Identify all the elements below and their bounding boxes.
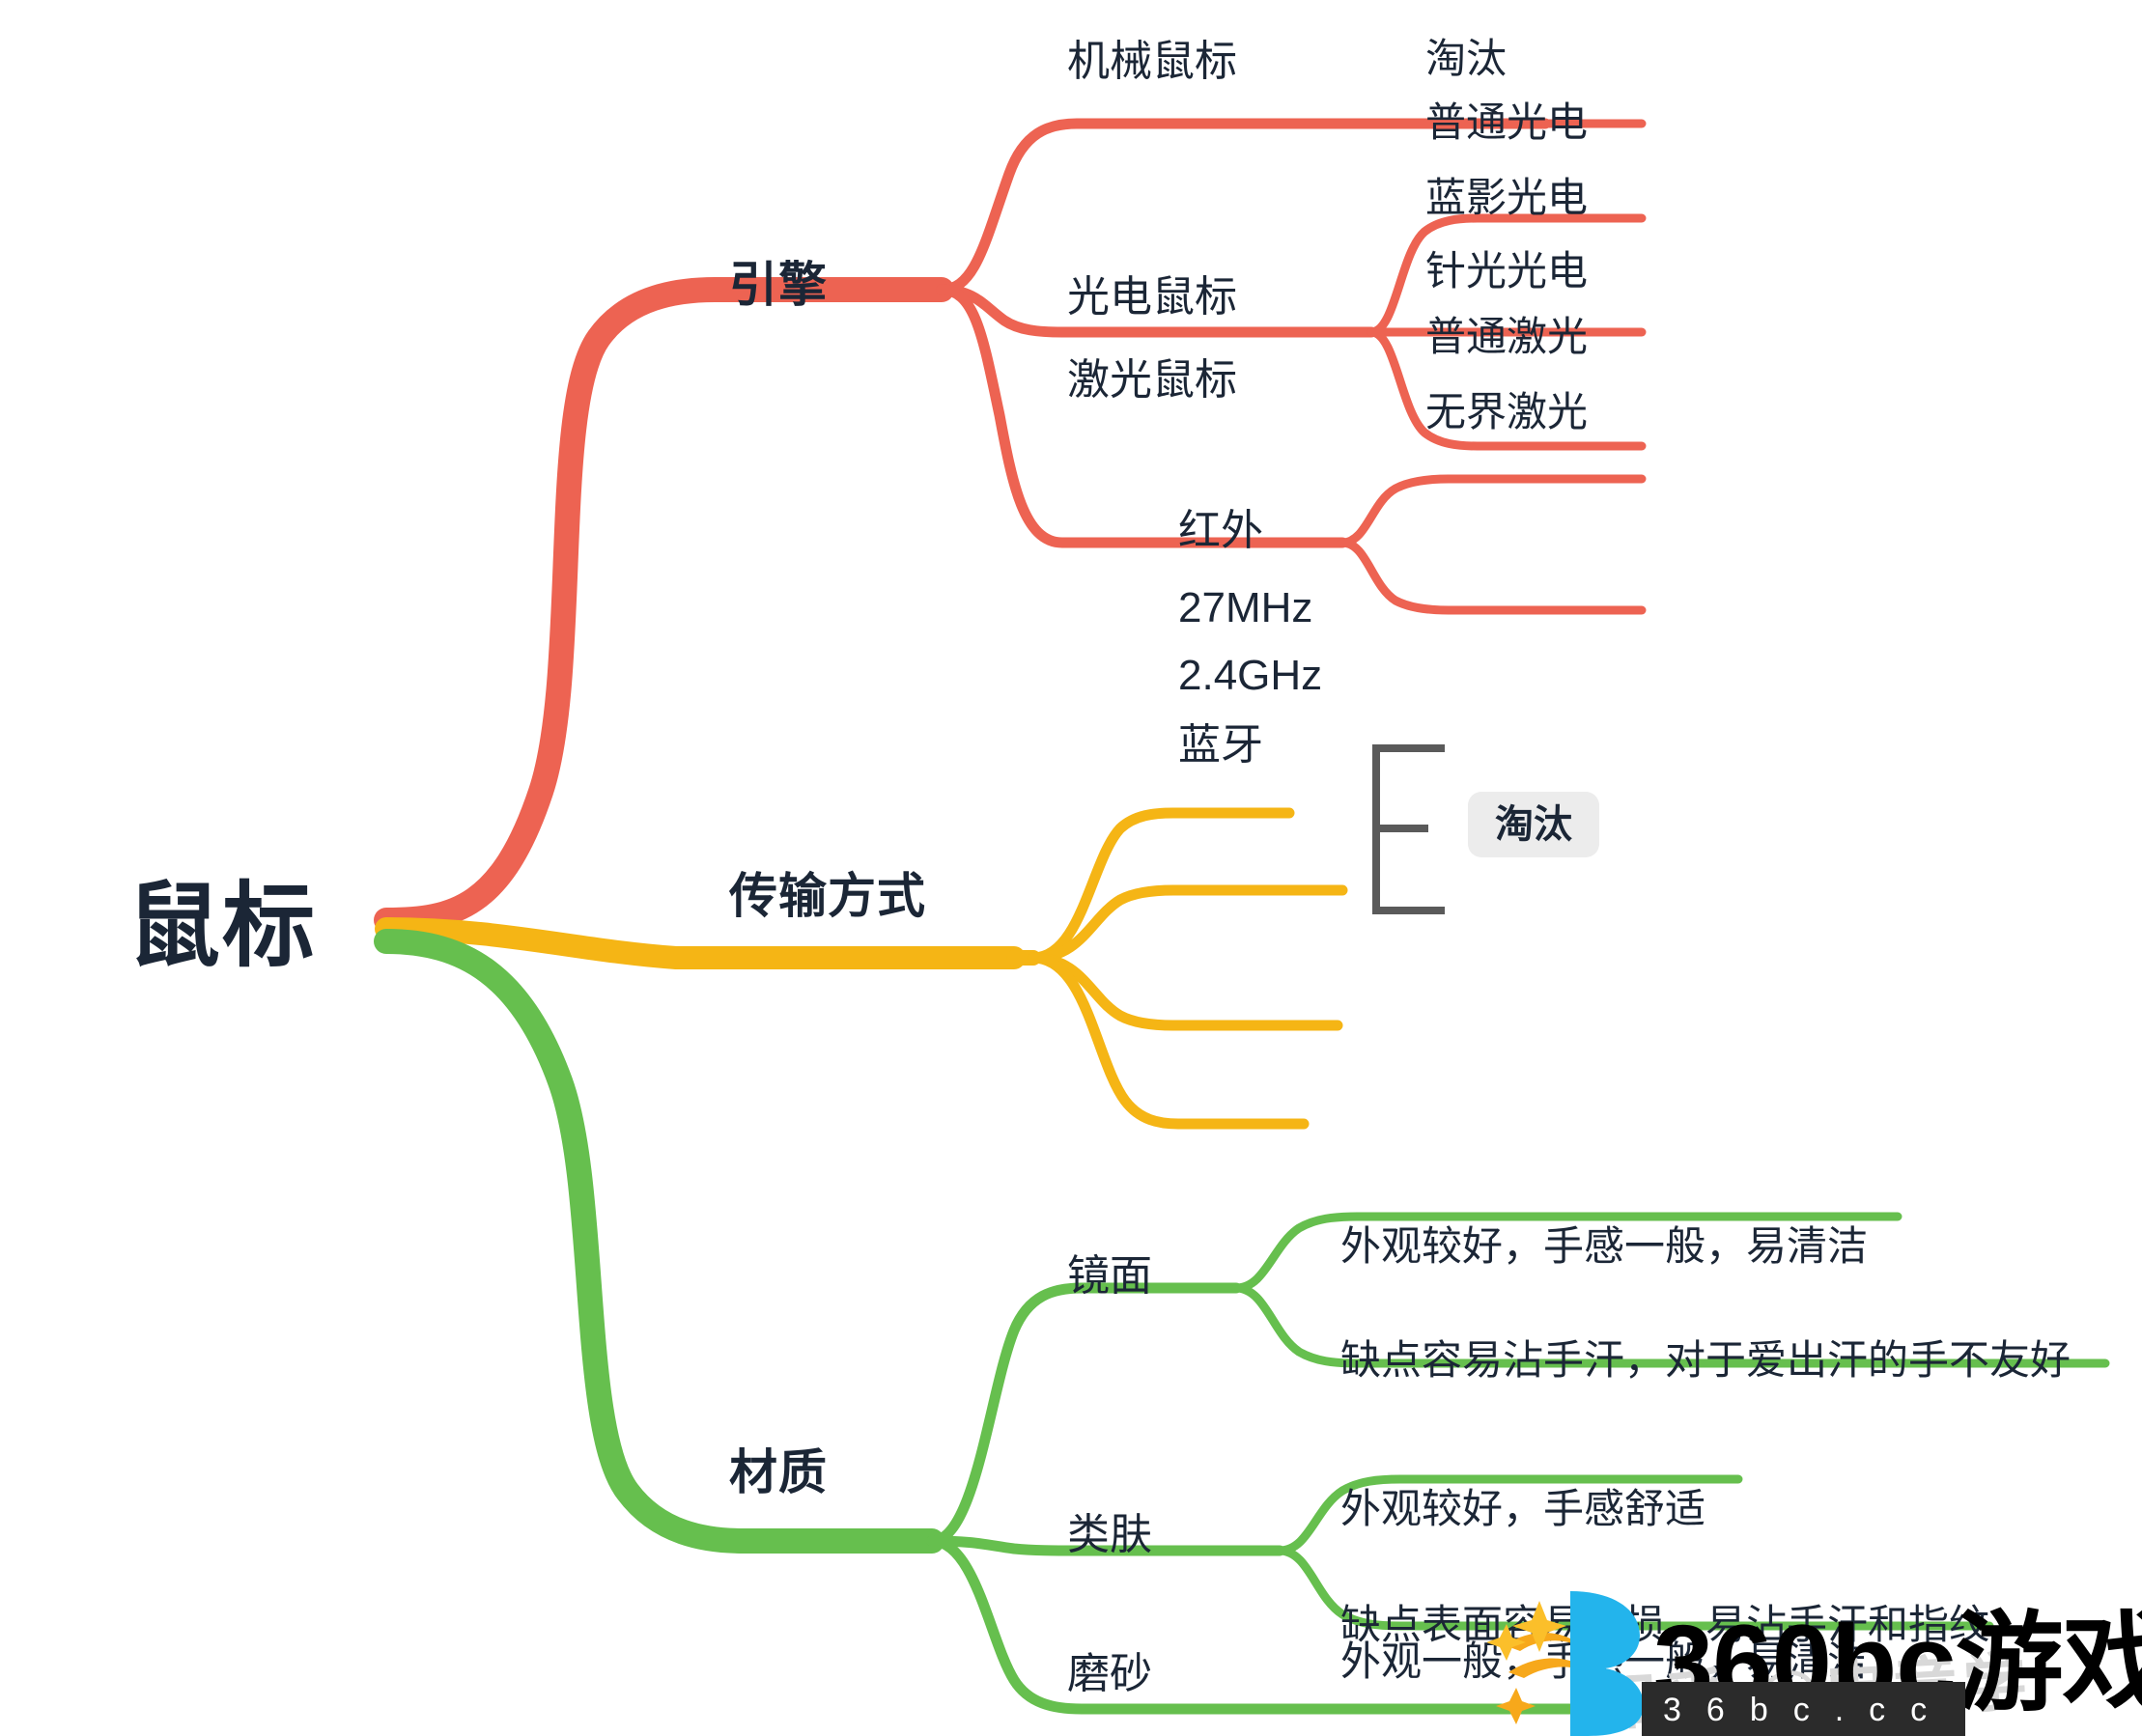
node-bluetooth[interactable]: 蓝牙: [1178, 724, 1263, 767]
node-matte[interactable]: 磨砂: [1067, 1653, 1152, 1695]
wire-root-to-engine: [386, 290, 942, 920]
obsolete-badge[interactable]: 淘汰: [1468, 792, 1599, 857]
node-ordinary-optical[interactable]: 普通光电: [1425, 102, 1588, 143]
node-mirror-con[interactable]: 缺点容易沾手汗，对于爱出汗的手不友好: [1340, 1340, 2071, 1381]
wire-root-to-material: [386, 941, 932, 1541]
node-24ghz[interactable]: 2.4GHz: [1178, 655, 1322, 697]
wire-root-to-transmission: [386, 929, 1014, 958]
branch-label-material[interactable]: 材质: [729, 1448, 828, 1497]
node-mirror-finish[interactable]: 镜面: [1067, 1255, 1152, 1298]
node-blue-shadow-optical[interactable]: 蓝影光电: [1425, 178, 1588, 218]
node-optical-mouse[interactable]: 光电鼠标: [1067, 276, 1237, 319]
node-skinlike-pro[interactable]: 外观较好，手感舒适: [1340, 1489, 1705, 1529]
node-infrared[interactable]: 红外: [1178, 510, 1263, 552]
wire-transmission-to-bluetooth: [1033, 958, 1304, 1124]
obsolete-bracket: [1376, 748, 1441, 910]
wire-laser-to-ordinary: [1342, 479, 1642, 543]
wire-engine-to-laser: [942, 290, 1342, 543]
node-skin-like[interactable]: 类肤: [1067, 1514, 1152, 1556]
node-mechanical-mouse[interactable]: 机械鼠标: [1067, 41, 1237, 83]
node-mechanical-eliminated[interactable]: 淘汰: [1425, 39, 1507, 79]
mindmap-canvas: 鼠标 引擎 传输方式 材质 机械鼠标 光电鼠标 激光鼠标 淘汰 普通光电 蓝影光…: [0, 0, 2142, 1736]
node-needle-light-optical[interactable]: 针光光电: [1425, 251, 1588, 292]
node-boundless-laser[interactable]: 无界激光: [1425, 392, 1588, 433]
node-mirror-pro[interactable]: 外观较好，手感一般，易清洁: [1340, 1226, 1868, 1267]
branch-label-transmission[interactable]: 传输方式: [729, 872, 926, 920]
branch-label-engine[interactable]: 引擎: [729, 261, 828, 309]
wire-material-to-mirror: [932, 1288, 1236, 1541]
wire-transmission-to-infrared: [1033, 813, 1289, 958]
branch-connectors: [0, 0, 2142, 1736]
node-ordinary-laser[interactable]: 普通激光: [1425, 317, 1588, 357]
wire-laser-to-boundless: [1342, 543, 1642, 610]
wire-transmission-to-24ghz: [1033, 958, 1338, 1025]
wire-transmission-to-27mhz: [1033, 890, 1342, 958]
domain-watermark-bar: 36bc.cc: [1642, 1682, 1965, 1736]
node-27mhz[interactable]: 27MHz: [1178, 587, 1312, 630]
root-node-label[interactable]: 鼠标: [127, 881, 317, 973]
node-laser-mouse[interactable]: 激光鼠标: [1067, 359, 1237, 402]
